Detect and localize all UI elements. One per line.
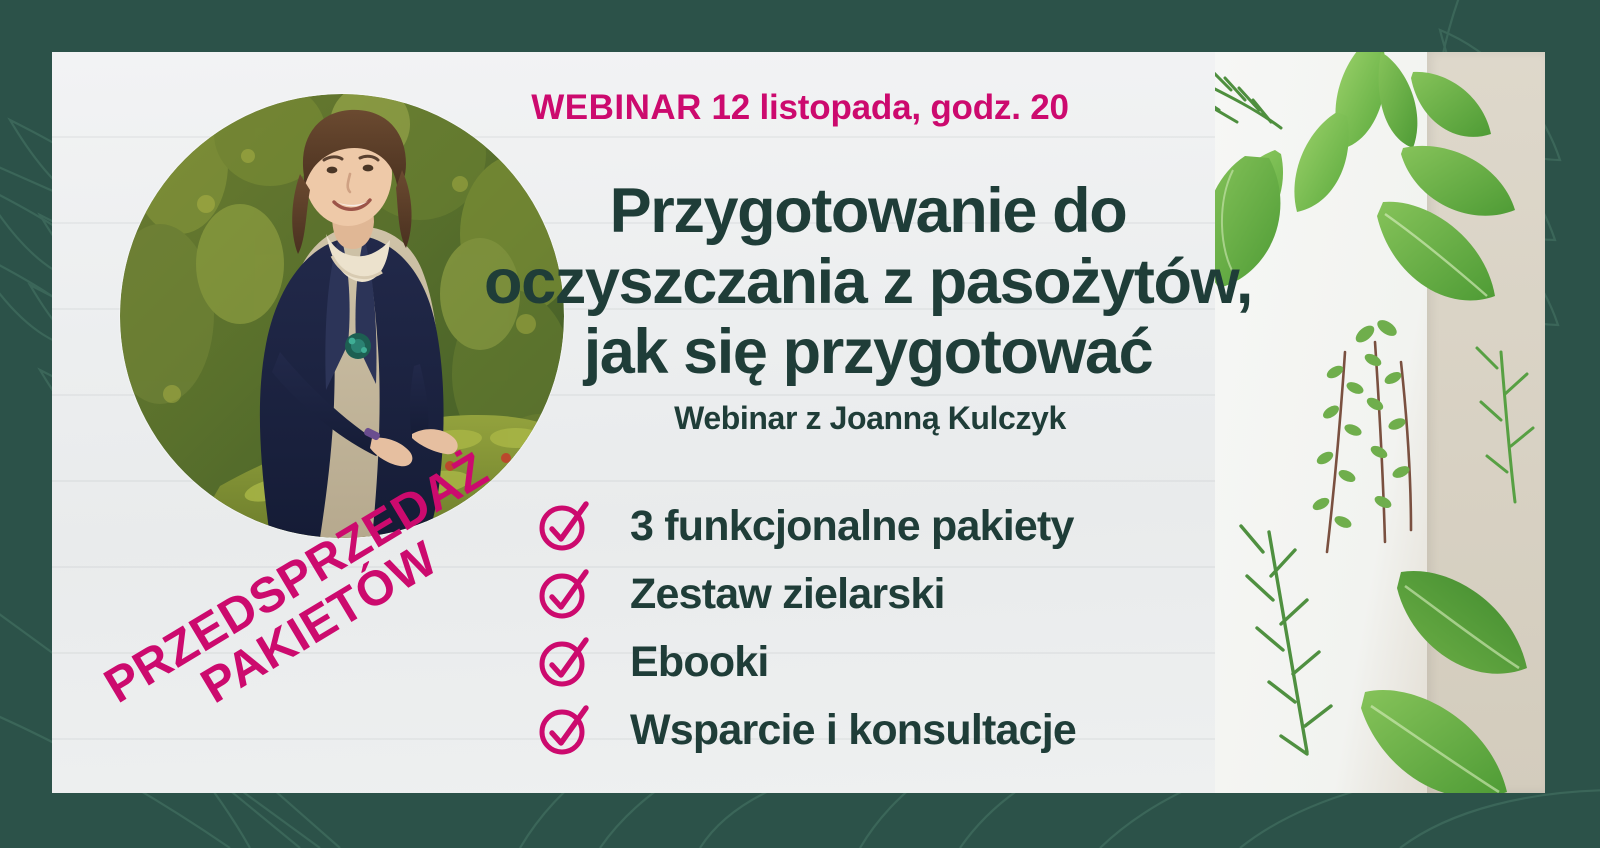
presenter-subtitle: Webinar z Joanną Kulczyk: [560, 400, 1180, 437]
check-circle-icon: [536, 704, 598, 756]
list-item: 3 funkcjonalne pakiety: [536, 492, 1076, 560]
benefits-list: 3 funkcjonalne pakiety Zestaw zielarski …: [536, 492, 1076, 764]
card-content: WEBINAR 12 listopada, godz. 20 Przygotow…: [0, 0, 1600, 848]
list-item-label: Zestaw zielarski: [630, 570, 945, 619]
webinar-date-kicker: WEBINAR 12 listopada, godz. 20: [440, 88, 1160, 128]
list-item: Ebooki: [536, 628, 1076, 696]
list-item-label: 3 funkcjonalne pakiety: [630, 502, 1074, 551]
kicker-date: 12 listopada, godz. 20: [711, 88, 1068, 127]
title-line-2: oczyszczania z pasożytów,: [452, 247, 1284, 318]
list-item: Wsparcie i konsultacje: [536, 696, 1076, 764]
kicker-lead: WEBINAR: [531, 88, 702, 127]
check-circle-icon: [536, 500, 598, 552]
list-item-label: Wsparcie i konsultacje: [630, 706, 1076, 755]
page-title: Przygotowanie do oczyszczania z pasożytó…: [452, 176, 1284, 388]
title-line-3: jak się przygotować: [452, 317, 1284, 388]
list-item-label: Ebooki: [630, 638, 769, 687]
list-item: Zestaw zielarski: [536, 560, 1076, 628]
title-line-1: Przygotowanie do: [452, 176, 1284, 247]
check-circle-icon: [536, 636, 598, 688]
check-circle-icon: [536, 568, 598, 620]
presale-badge: PRZEDSPRZEDAŻ PAKIETÓW: [97, 448, 517, 755]
